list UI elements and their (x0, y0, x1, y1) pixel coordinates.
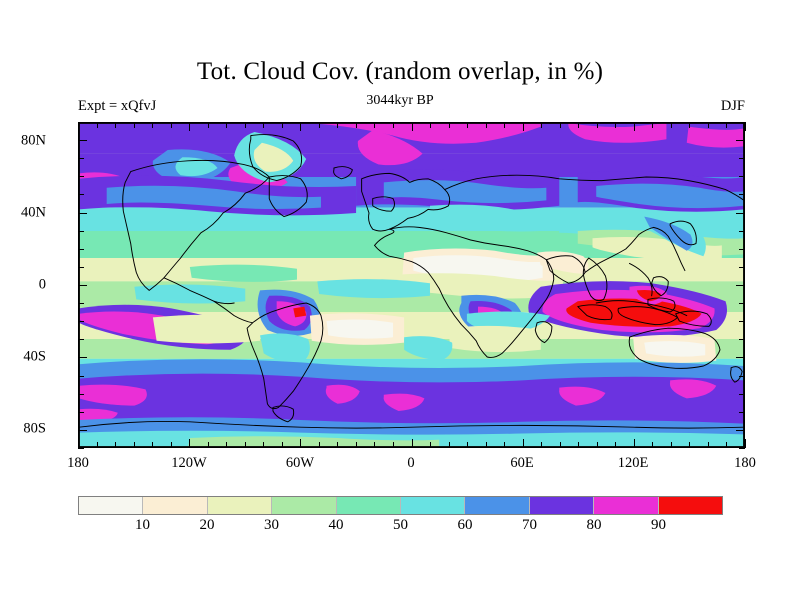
x-tick-120e: 120E (593, 455, 673, 472)
tick-mark (430, 442, 431, 448)
y-tick-40s: 40S (0, 349, 46, 366)
tick-mark (319, 122, 320, 128)
y-tick-80n: 80N (0, 133, 46, 150)
tick-mark (97, 122, 98, 128)
colorbar-tick-70: 70 (500, 517, 560, 534)
tick-mark (78, 412, 84, 413)
time-label: 3044kyr BP (0, 93, 800, 109)
tick-mark (736, 430, 745, 431)
map-svg (79, 123, 744, 447)
colorbar-band-70-80 (529, 497, 593, 514)
tick-mark (134, 122, 135, 128)
tick-mark (319, 442, 320, 448)
tick-mark (337, 442, 338, 448)
tick-mark (486, 122, 487, 128)
tick-mark (739, 339, 745, 340)
tick-mark (578, 442, 579, 448)
tick-mark (523, 122, 524, 131)
tick-mark (736, 140, 745, 141)
tick-mark (634, 439, 635, 448)
tick-mark (171, 122, 172, 128)
tick-mark (486, 442, 487, 448)
tick-mark (356, 122, 357, 128)
tick-mark (708, 442, 709, 448)
colorbar-tick-10: 10 (113, 517, 173, 534)
tick-mark (412, 439, 413, 448)
tick-mark (282, 442, 283, 448)
tick-mark (634, 122, 635, 131)
tick-mark (393, 442, 394, 448)
tick-mark (739, 267, 745, 268)
tick-mark (412, 122, 413, 131)
tick-mark (393, 122, 394, 128)
colorbar-band-0-10 (79, 497, 142, 514)
y-tick-40n: 40N (0, 205, 46, 222)
tick-mark (652, 122, 653, 128)
tick-mark (578, 122, 579, 128)
tick-mark (739, 394, 745, 395)
y-tick-80s: 80S (0, 421, 46, 438)
tick-mark (282, 122, 283, 128)
tick-mark (523, 439, 524, 448)
colorbar-tick-60: 60 (435, 517, 495, 534)
x-tick-180e: 180 (705, 455, 785, 472)
tick-mark (739, 448, 745, 449)
colorbar-band-80-90 (593, 497, 657, 514)
tick-mark (560, 122, 561, 128)
tick-mark (739, 122, 745, 123)
colorbar-band-40-50 (336, 497, 400, 514)
tick-mark (708, 122, 709, 128)
tick-mark (78, 176, 84, 177)
tick-mark (78, 439, 79, 448)
tick-mark (78, 194, 84, 195)
tick-mark (78, 303, 84, 304)
tick-mark (78, 339, 84, 340)
season-label: DJF (721, 98, 745, 115)
tick-mark (78, 231, 84, 232)
tick-mark (78, 376, 84, 377)
tick-mark (374, 442, 375, 448)
tick-mark (560, 442, 561, 448)
tick-mark (78, 249, 84, 250)
tick-mark (134, 442, 135, 448)
tick-mark (449, 122, 450, 128)
colorbar-band-90-100 (658, 497, 722, 514)
tick-mark (745, 439, 746, 448)
tick-mark (736, 285, 745, 286)
tick-mark (78, 448, 84, 449)
tick-mark (78, 158, 84, 159)
tick-mark (739, 231, 745, 232)
tick-mark (115, 122, 116, 128)
tick-mark (671, 442, 672, 448)
tick-mark (97, 442, 98, 448)
y-tick-0: 0 (0, 277, 46, 294)
tick-mark (597, 122, 598, 128)
tick-mark (504, 122, 505, 128)
tick-mark (78, 394, 84, 395)
tick-mark (430, 122, 431, 128)
colorbar-band-20-30 (207, 497, 271, 514)
tick-mark (615, 442, 616, 448)
tick-mark (300, 122, 301, 131)
tick-mark (541, 442, 542, 448)
tick-mark (726, 122, 727, 128)
colorbar-band-50-60 (400, 497, 464, 514)
tick-mark (739, 176, 745, 177)
tick-mark (337, 122, 338, 128)
tick-mark (78, 140, 87, 141)
x-tick-180w: 180 (38, 455, 118, 472)
tick-mark (739, 158, 745, 159)
tick-mark (597, 442, 598, 448)
colorbar (78, 496, 723, 515)
tick-mark (78, 357, 87, 358)
x-tick-60e: 60E (482, 455, 562, 472)
x-tick-0: 0 (371, 455, 451, 472)
tick-mark (245, 442, 246, 448)
tick-mark (226, 122, 227, 128)
tick-mark (78, 122, 79, 131)
colorbar-tick-20: 20 (177, 517, 237, 534)
tick-mark (689, 122, 690, 128)
map-plot-area (78, 122, 745, 448)
tick-mark (541, 122, 542, 128)
colorbar-tick-30: 30 (242, 517, 302, 534)
colorbar-band-10-20 (142, 497, 206, 514)
colorbar-band-30-40 (271, 497, 335, 514)
tick-mark (671, 122, 672, 128)
tick-mark (152, 442, 153, 448)
tick-mark (300, 439, 301, 448)
colorbar-tick-40: 40 (306, 517, 366, 534)
page-title: Tot. Cloud Cov. (random overlap, in %) (0, 58, 800, 86)
colorbar-band-60-70 (464, 497, 528, 514)
tick-mark (152, 122, 153, 128)
tick-mark (78, 285, 87, 286)
tick-mark (449, 442, 450, 448)
tick-mark (78, 321, 84, 322)
tick-mark (263, 122, 264, 128)
tick-mark (739, 194, 745, 195)
x-tick-120w: 120W (149, 455, 229, 472)
colorbar-tick-50: 50 (371, 517, 431, 534)
tick-mark (689, 442, 690, 448)
tick-mark (115, 442, 116, 448)
colorbar-tick-80: 80 (564, 517, 624, 534)
tick-mark (615, 122, 616, 128)
tick-mark (356, 442, 357, 448)
tick-mark (226, 442, 227, 448)
tick-mark (374, 122, 375, 128)
tick-mark (171, 442, 172, 448)
tick-mark (189, 439, 190, 448)
tick-mark (739, 303, 745, 304)
x-tick-60w: 60W (260, 455, 340, 472)
tick-mark (652, 442, 653, 448)
tick-mark (208, 122, 209, 128)
tick-mark (736, 357, 745, 358)
contour-fill-group (79, 123, 744, 447)
tick-mark (78, 430, 87, 431)
tick-mark (467, 442, 468, 448)
tick-mark (739, 376, 745, 377)
colorbar-tick-90: 90 (629, 517, 689, 534)
tick-mark (263, 442, 264, 448)
tick-mark (189, 122, 190, 131)
tick-mark (739, 321, 745, 322)
tick-mark (745, 122, 746, 131)
figure-canvas: Tot. Cloud Cov. (random overlap, in %) E… (0, 0, 800, 600)
tick-mark (504, 442, 505, 448)
tick-mark (208, 442, 209, 448)
tick-mark (739, 249, 745, 250)
tick-mark (245, 122, 246, 128)
tick-mark (726, 442, 727, 448)
tick-mark (467, 122, 468, 128)
tick-mark (78, 213, 87, 214)
tick-mark (78, 122, 84, 123)
tick-mark (78, 267, 84, 268)
tick-mark (736, 213, 745, 214)
tick-mark (739, 412, 745, 413)
